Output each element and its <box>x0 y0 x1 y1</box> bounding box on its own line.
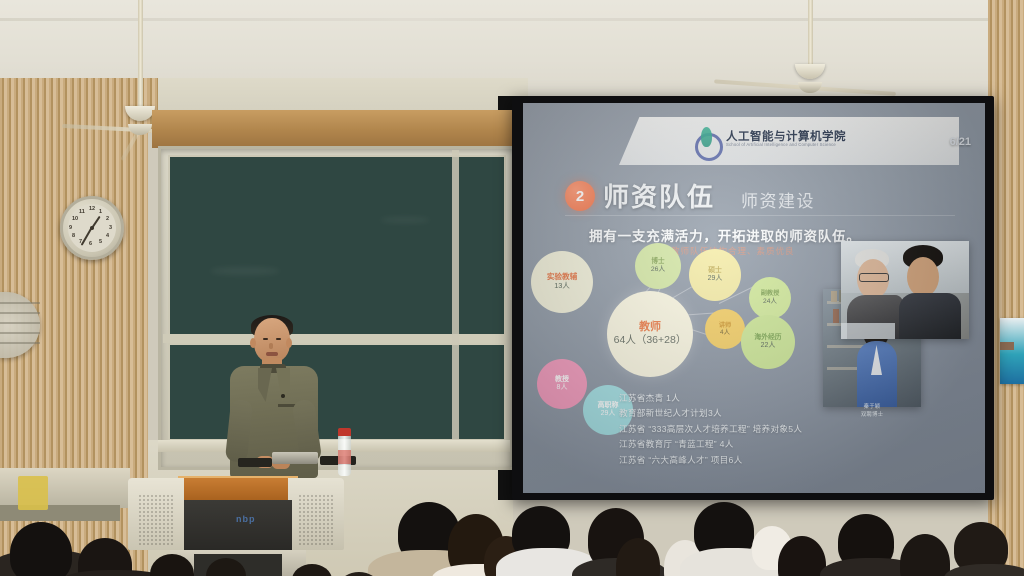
bubble-count: 13人 <box>554 282 570 291</box>
clock-numeral: 4 <box>106 233 109 239</box>
audience-head <box>292 564 332 576</box>
note-line: 江苏省杰青 1人 <box>619 391 802 406</box>
upper-wall-plaster <box>148 78 528 114</box>
bubble-professor: 教授 8人 <box>537 359 587 409</box>
water-bottle-cap <box>338 428 351 436</box>
water-bottle-label <box>338 450 351 464</box>
section-number-badge: 2 <box>565 181 595 211</box>
lecture-hall-screenshot: 12 1 2 3 4 5 6 7 8 9 10 11 <box>0 0 1024 576</box>
microphone <box>238 458 272 467</box>
slide-lead-text: 拥有一支充满活力，开拓进取的师资队伍。 <box>589 225 861 245</box>
speaker-lapel-pin <box>281 394 285 398</box>
portrait-photo-caption: 秦于颖 双聘博士 <box>823 403 921 419</box>
bubble-count: 26人 <box>651 266 665 274</box>
bubble-count: 29人 <box>708 275 723 283</box>
ceiling-trim <box>0 18 1024 21</box>
award-photo: 徐春雨 中国高校计算机大赛 移动应用创新赛特等奖 <box>841 241 969 339</box>
wall-mounted-fan <box>0 292 40 370</box>
bubble-assoc-professor: 副教授 24人 <box>749 277 791 319</box>
clock-numeral: 9 <box>69 225 72 231</box>
slide-page-number: 6/21 <box>950 136 971 148</box>
blackboard-vertical-split <box>452 150 459 442</box>
clock-face: 12 1 2 3 4 5 6 7 8 9 10 11 <box>68 204 116 252</box>
slide-subtitle: 师资建设 <box>741 187 815 212</box>
caption-line: 秦于颖 <box>823 403 921 411</box>
clock-numeral: 5 <box>99 239 102 245</box>
wall-clock: 12 1 2 3 4 5 6 7 8 9 10 11 <box>60 196 124 260</box>
bubble-label: 教授 <box>555 376 569 384</box>
school-name-english: School of Artificial Intelligence and Co… <box>726 142 836 147</box>
clock-numeral: 1 <box>99 209 102 215</box>
projection-screen[interactable]: 人工智能与计算机学院 School of Artificial Intellig… <box>523 103 985 493</box>
wall-poster <box>1000 318 1024 384</box>
wall-poster-band <box>1000 342 1014 350</box>
audience-row <box>0 492 1024 576</box>
clock-numeral: 8 <box>72 233 75 239</box>
note-line: 江苏省 “333高层次人才培养工程” 培养对象5人 <box>619 422 802 437</box>
clock-numeral: 2 <box>106 216 109 222</box>
bubble-label: 副教授 <box>761 290 780 297</box>
bubble-lecturer: 讲师 4人 <box>705 309 745 349</box>
audience-head <box>900 534 950 576</box>
blackboard-chalk-tray <box>158 440 510 452</box>
clock-numeral: 6 <box>89 241 92 247</box>
audience-shoulders <box>944 564 1024 576</box>
bubble-count: 4人 <box>720 329 730 337</box>
bubble-lab-staff: 实验教辅 13人 <box>531 251 593 313</box>
bubble-teachers: 教师 64人（36+28） <box>607 291 693 377</box>
slide-title: 师资队伍 <box>603 177 715 214</box>
clock-numeral: 3 <box>109 225 112 231</box>
note-line: 江苏省教育厅 “青蓝工程” 4人 <box>619 437 802 452</box>
clock-numeral: 11 <box>79 209 85 215</box>
note-line: 教育部新世纪人才计划3人 <box>619 406 802 421</box>
note-line: 江苏省 “六大高峰人才” 项目6人 <box>619 453 802 468</box>
bubble-count: 22人 <box>761 342 776 350</box>
bubble-overseas-experience: 海外经历 22人 <box>741 315 795 369</box>
audience-head <box>10 522 72 576</box>
speaker-head <box>254 318 290 362</box>
audience-head <box>206 558 246 576</box>
bubble-count: 64人（36+28） <box>614 334 687 346</box>
bubble-doctorate: 博士 26人 <box>635 243 681 289</box>
clock-numeral: 10 <box>72 216 78 222</box>
school-logo-icon <box>695 127 721 155</box>
caption-line: 双聘博士 <box>823 411 921 419</box>
bubble-label: 海外经历 <box>754 334 781 342</box>
clock-numeral: 12 <box>89 206 95 212</box>
bubble-label: 硕士 <box>708 267 722 275</box>
bubble-label: 讲师 <box>719 322 731 329</box>
bubble-masters: 硕士 29人 <box>689 249 741 301</box>
desk-device <box>272 452 318 464</box>
bubble-count: 29人 <box>601 410 616 418</box>
blackboard-top-rail <box>152 110 516 148</box>
bubble-label: 博士 <box>651 258 664 266</box>
bubble-count: 8人 <box>557 384 568 392</box>
audience-head <box>150 554 194 576</box>
slide-notes-list: 江苏省杰青 1人 教育部新世纪人才计划3人 江苏省 “333高层次人才培养工程”… <box>619 391 802 468</box>
bubble-label: 教师 <box>639 321 661 334</box>
title-underline <box>565 215 955 216</box>
clock-center-pin <box>90 226 94 230</box>
bubble-label: 高职称 <box>598 402 619 410</box>
bubble-count: 24人 <box>763 298 777 306</box>
